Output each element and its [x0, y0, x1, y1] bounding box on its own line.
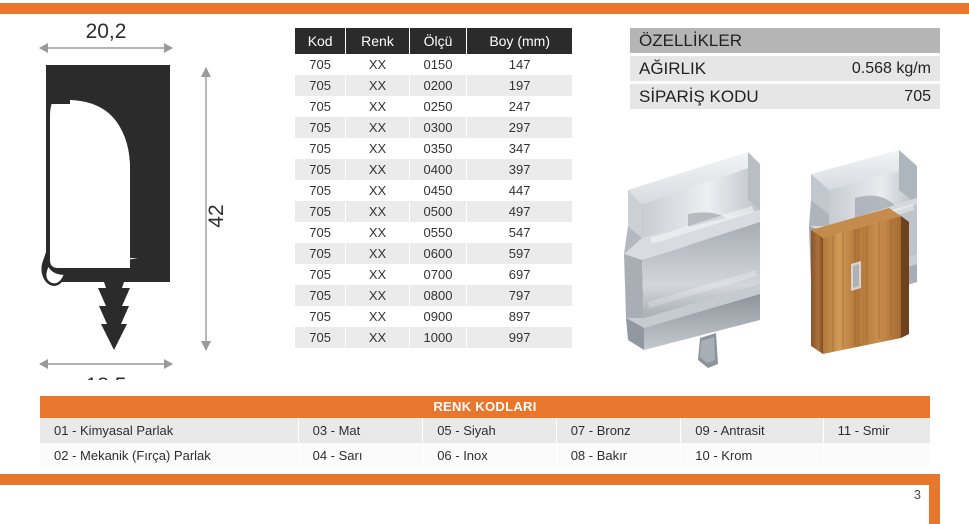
cell-boy: 147 — [467, 54, 572, 75]
cell-kod: 705 — [295, 75, 346, 96]
cell-olcu: 0450 — [409, 180, 467, 201]
cell-olcu: 0550 — [409, 222, 467, 243]
cell-olcu: 0200 — [409, 75, 467, 96]
color-codes-title: RENK KODLARI — [40, 396, 930, 418]
dimension-label-height: 42 — [205, 204, 228, 227]
cell-boy: 447 — [467, 180, 572, 201]
table-row: 705XX0450447 — [295, 180, 572, 201]
cell-renk: XX — [346, 54, 409, 75]
cell-boy: 697 — [467, 264, 572, 285]
cell-olcu: 0800 — [409, 285, 467, 306]
table-header-row: Kod Renk Ölçü Boy (mm) — [295, 28, 572, 54]
cell-kod: 705 — [295, 54, 346, 75]
table-row: 705XX0150147 — [295, 54, 572, 75]
technical-drawing: 20,2 42 18,5 — [10, 20, 280, 380]
color-code-10: 10 - Krom — [681, 443, 823, 468]
spec-value-weight: 0.568 kg/m — [852, 60, 931, 78]
color-code-04: 04 - Sarı — [298, 443, 423, 468]
cell-renk: XX — [346, 117, 409, 138]
table-row: 705XX0500497 — [295, 201, 572, 222]
cell-renk: XX — [346, 138, 409, 159]
cell-olcu: 1000 — [409, 327, 467, 348]
datasheet-page: 20,2 42 18,5 Kod Renk Ölçü Boy — [0, 0, 969, 524]
cell-kod: 705 — [295, 285, 346, 306]
cell-boy: 547 — [467, 222, 572, 243]
table-row: 705XX0350347 — [295, 138, 572, 159]
cell-kod: 705 — [295, 306, 346, 327]
cell-kod: 705 — [295, 243, 346, 264]
color-codes-section: RENK KODLARI 01 - Kimyasal Parlak 03 - M… — [40, 396, 930, 468]
cell-boy: 497 — [467, 201, 572, 222]
cell-kod: 705 — [295, 96, 346, 117]
product-size-table: Kod Renk Ölçü Boy (mm) 705XX0150147 705X… — [295, 28, 572, 348]
spec-row-order-code: SİPARİŞ KODU 705 — [630, 84, 940, 109]
cell-boy: 897 — [467, 306, 572, 327]
dimension-width-bottom — [39, 359, 173, 369]
cell-olcu: 0400 — [409, 159, 467, 180]
cell-boy: 997 — [467, 327, 572, 348]
profile-barb-stem — [98, 276, 130, 350]
cell-renk: XX — [346, 327, 409, 348]
profile-outline — [39, 65, 170, 286]
cell-boy: 247 — [467, 96, 572, 117]
cell-kod: 705 — [295, 117, 346, 138]
dimension-width-top — [39, 43, 173, 53]
table-row: 705XX0250247 — [295, 96, 572, 117]
cell-renk: XX — [346, 222, 409, 243]
color-code-03: 03 - Mat — [298, 418, 423, 443]
table-row: 705XX0600597 — [295, 243, 572, 264]
cell-boy: 597 — [467, 243, 572, 264]
product-table-body: 705XX0150147 705XX0200197 705XX0250247 7… — [295, 54, 572, 348]
spec-row-weight: AĞIRLIK 0.568 kg/m — [630, 56, 940, 81]
color-code-empty — [823, 443, 930, 468]
cell-kod: 705 — [295, 327, 346, 348]
table-row: 705XX0200197 — [295, 75, 572, 96]
table-row: 705XX0700697 — [295, 264, 572, 285]
cell-renk: XX — [346, 201, 409, 222]
page-number: 3 — [895, 487, 921, 502]
color-code-01: 01 - Kimyasal Parlak — [40, 418, 298, 443]
specifications-title: ÖZELLİKLER — [639, 31, 742, 51]
cell-renk: XX — [346, 159, 409, 180]
specifications-title-row: ÖZELLİKLER — [630, 28, 940, 53]
dimension-label-width-top: 20,2 — [86, 20, 127, 43]
cell-olcu: 0900 — [409, 306, 467, 327]
cell-renk: XX — [346, 306, 409, 327]
color-code-08: 08 - Bakır — [556, 443, 681, 468]
color-code-07: 07 - Bronz — [556, 418, 681, 443]
top-accent-bar — [0, 3, 969, 14]
cell-renk: XX — [346, 75, 409, 96]
color-code-06: 06 - Inox — [423, 443, 557, 468]
table-row: 705XX0900897 — [295, 306, 572, 327]
cell-renk: XX — [346, 285, 409, 306]
color-codes-row-2: 02 - Mekanik (Fırça) Parlak 04 - Sarı 06… — [40, 443, 930, 468]
dimension-label-width-bottom: 18,5 — [86, 374, 127, 380]
column-header-boy: Boy (mm) — [467, 28, 572, 54]
cell-boy: 197 — [467, 75, 572, 96]
cell-renk: XX — [346, 96, 409, 117]
table-row: 705XX0550547 — [295, 222, 572, 243]
spec-label-weight: AĞIRLIK — [639, 59, 706, 79]
table-row: 705XX1000997 — [295, 327, 572, 348]
column-header-olcu: Ölçü — [409, 28, 467, 54]
cell-olcu: 0500 — [409, 201, 467, 222]
cell-kod: 705 — [295, 222, 346, 243]
cell-olcu: 0350 — [409, 138, 467, 159]
cell-renk: XX — [346, 264, 409, 285]
color-code-11: 11 - Smir — [823, 418, 930, 443]
color-code-09: 09 - Antrasit — [681, 418, 823, 443]
product-render-aluminium — [588, 142, 788, 370]
cell-boy: 397 — [467, 159, 572, 180]
bottom-accent-bar — [0, 474, 940, 485]
column-header-renk: Renk — [346, 28, 409, 54]
cell-kod: 705 — [295, 180, 346, 201]
table-row: 705XX0800797 — [295, 285, 572, 306]
cell-boy: 797 — [467, 285, 572, 306]
column-header-kod: Kod — [295, 28, 346, 54]
cell-kod: 705 — [295, 264, 346, 285]
cell-renk: XX — [346, 243, 409, 264]
color-code-05: 05 - Siyah — [423, 418, 557, 443]
table-row: 705XX0300297 — [295, 117, 572, 138]
specifications-panel: ÖZELLİKLER AĞIRLIK 0.568 kg/m SİPARİŞ KO… — [630, 28, 940, 112]
product-render-on-wood-panel — [793, 142, 943, 370]
cell-kod: 705 — [295, 138, 346, 159]
spec-label-order-code: SİPARİŞ KODU — [639, 87, 759, 107]
color-codes-table: 01 - Kimyasal Parlak 03 - Mat 05 - Siyah… — [40, 418, 930, 468]
cell-kod: 705 — [295, 201, 346, 222]
spec-value-order-code: 705 — [904, 88, 931, 106]
color-code-02: 02 - Mekanik (Fırça) Parlak — [40, 443, 298, 468]
cell-boy: 347 — [467, 138, 572, 159]
corner-accent-bar — [929, 474, 940, 524]
cell-boy: 297 — [467, 117, 572, 138]
cell-renk: XX — [346, 180, 409, 201]
cell-olcu: 0150 — [409, 54, 467, 75]
table-row: 705XX0400397 — [295, 159, 572, 180]
cell-olcu: 0600 — [409, 243, 467, 264]
color-codes-row-1: 01 - Kimyasal Parlak 03 - Mat 05 - Siyah… — [40, 418, 930, 443]
cell-olcu: 0300 — [409, 117, 467, 138]
cell-olcu: 0250 — [409, 96, 467, 117]
cell-olcu: 0700 — [409, 264, 467, 285]
cell-kod: 705 — [295, 159, 346, 180]
